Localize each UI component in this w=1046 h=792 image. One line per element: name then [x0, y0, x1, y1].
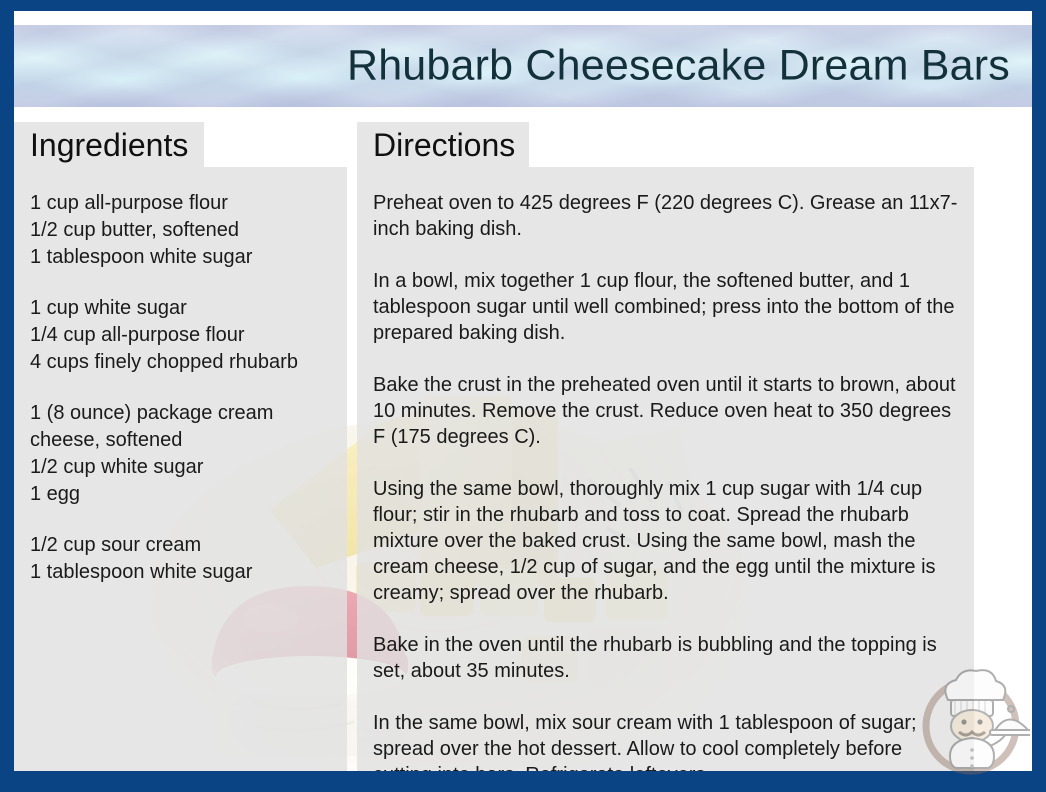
list-item: 1 (8 ounce) package cream cheese, soften…: [30, 400, 333, 454]
directions-panel: Directions Preheat oven to 425 degrees F…: [357, 122, 974, 771]
direction-step: In the same bowl, mix sour cream with 1 …: [373, 710, 960, 771]
direction-step: Bake the crust in the preheated oven unt…: [373, 372, 960, 450]
list-item: 4 cups finely chopped rhubarb: [30, 349, 333, 376]
directions-heading: Directions: [373, 125, 515, 165]
ingredient-group: 1 (8 ounce) package cream cheese, soften…: [30, 400, 333, 508]
list-item: 1 tablespoon white sugar: [30, 244, 333, 271]
ingredients-heading: Ingredients: [30, 125, 188, 165]
ingredients-header-cutout: [204, 122, 347, 167]
list-item: 1/2 cup white sugar: [30, 454, 333, 481]
page-title: Rhubarb Cheesecake Dream Bars: [347, 45, 1010, 88]
ingredient-group: 1/2 cup sour cream 1 tablespoon white su…: [30, 532, 333, 586]
list-item: 1 tablespoon white sugar: [30, 559, 333, 586]
ingredient-group: 1 cup white sugar 1/4 cup all-purpose fl…: [30, 295, 333, 376]
direction-step: Bake in the oven until the rhubarb is bu…: [373, 632, 960, 684]
direction-step: In a bowl, mix together 1 cup flour, the…: [373, 268, 960, 346]
list-item: 1/2 cup sour cream: [30, 532, 333, 559]
list-item: 1 cup white sugar: [30, 295, 333, 322]
directions-body: Preheat oven to 425 degrees F (220 degre…: [373, 190, 960, 771]
list-item: 1 cup all-purpose flour: [30, 190, 333, 217]
title-banner: Rhubarb Cheesecake Dream Bars: [14, 25, 1032, 107]
directions-header-cutout: [529, 122, 974, 167]
list-item: 1/4 cup all-purpose flour: [30, 322, 333, 349]
list-item: 1 egg: [30, 481, 333, 508]
direction-step: Using the same bowl, thoroughly mix 1 cu…: [373, 476, 960, 606]
ingredients-body: 1 cup all-purpose flour 1/2 cup butter, …: [30, 190, 333, 586]
list-item: 1/2 cup butter, softened: [30, 217, 333, 244]
direction-step: Preheat oven to 425 degrees F (220 degre…: [373, 190, 960, 242]
recipe-card: Rhubarb Cheesecake Dream Bars: [0, 0, 1046, 792]
ingredients-panel: Ingredients 1 cup all-purpose flour 1/2 …: [14, 122, 347, 771]
ingredient-group: 1 cup all-purpose flour 1/2 cup butter, …: [30, 190, 333, 271]
